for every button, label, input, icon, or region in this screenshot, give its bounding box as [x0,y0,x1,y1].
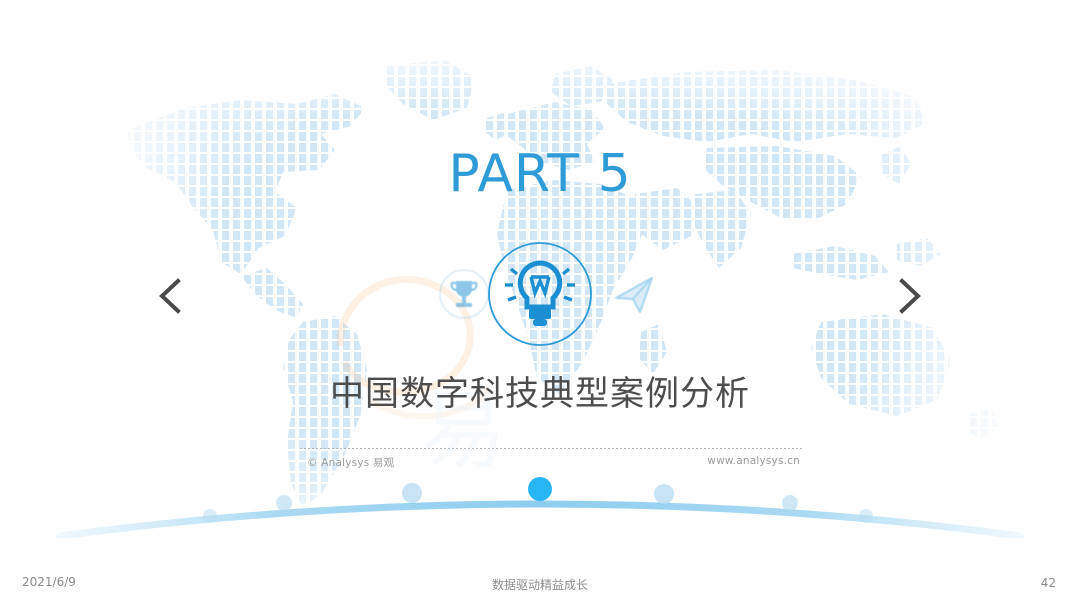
arc-line [60,504,1020,536]
paper-plane-icon [608,268,660,320]
progress-dot[interactable] [782,495,798,511]
part-label: PART 5 [0,148,1080,200]
lightbulb-icon [487,241,593,347]
progress-indicator [0,468,1080,538]
divider [300,448,802,449]
progress-dot[interactable] [203,509,217,523]
website-label[interactable]: www.analysys.cn [707,455,800,467]
page-number: 42 [1041,576,1056,590]
progress-dot[interactable] [402,483,422,503]
presentation-slide: 易 PART 5 [0,0,1080,608]
progress-dot[interactable] [654,484,674,504]
trophy-icon [438,268,490,320]
progress-dot-active[interactable] [528,477,552,501]
page-title: 中国数字科技典型案例分析 [0,374,1080,415]
slide-footer: 2021/6/9 数据驱动精益成长 42 [0,564,1080,608]
fade-top [0,0,1080,120]
section-icon-row [0,238,1080,350]
progress-dots [203,477,873,523]
progress-arc [0,468,1080,538]
footer-center-text: 数据驱动精益成长 [0,576,1080,593]
progress-dot[interactable] [276,495,292,511]
progress-dot[interactable] [859,509,873,523]
